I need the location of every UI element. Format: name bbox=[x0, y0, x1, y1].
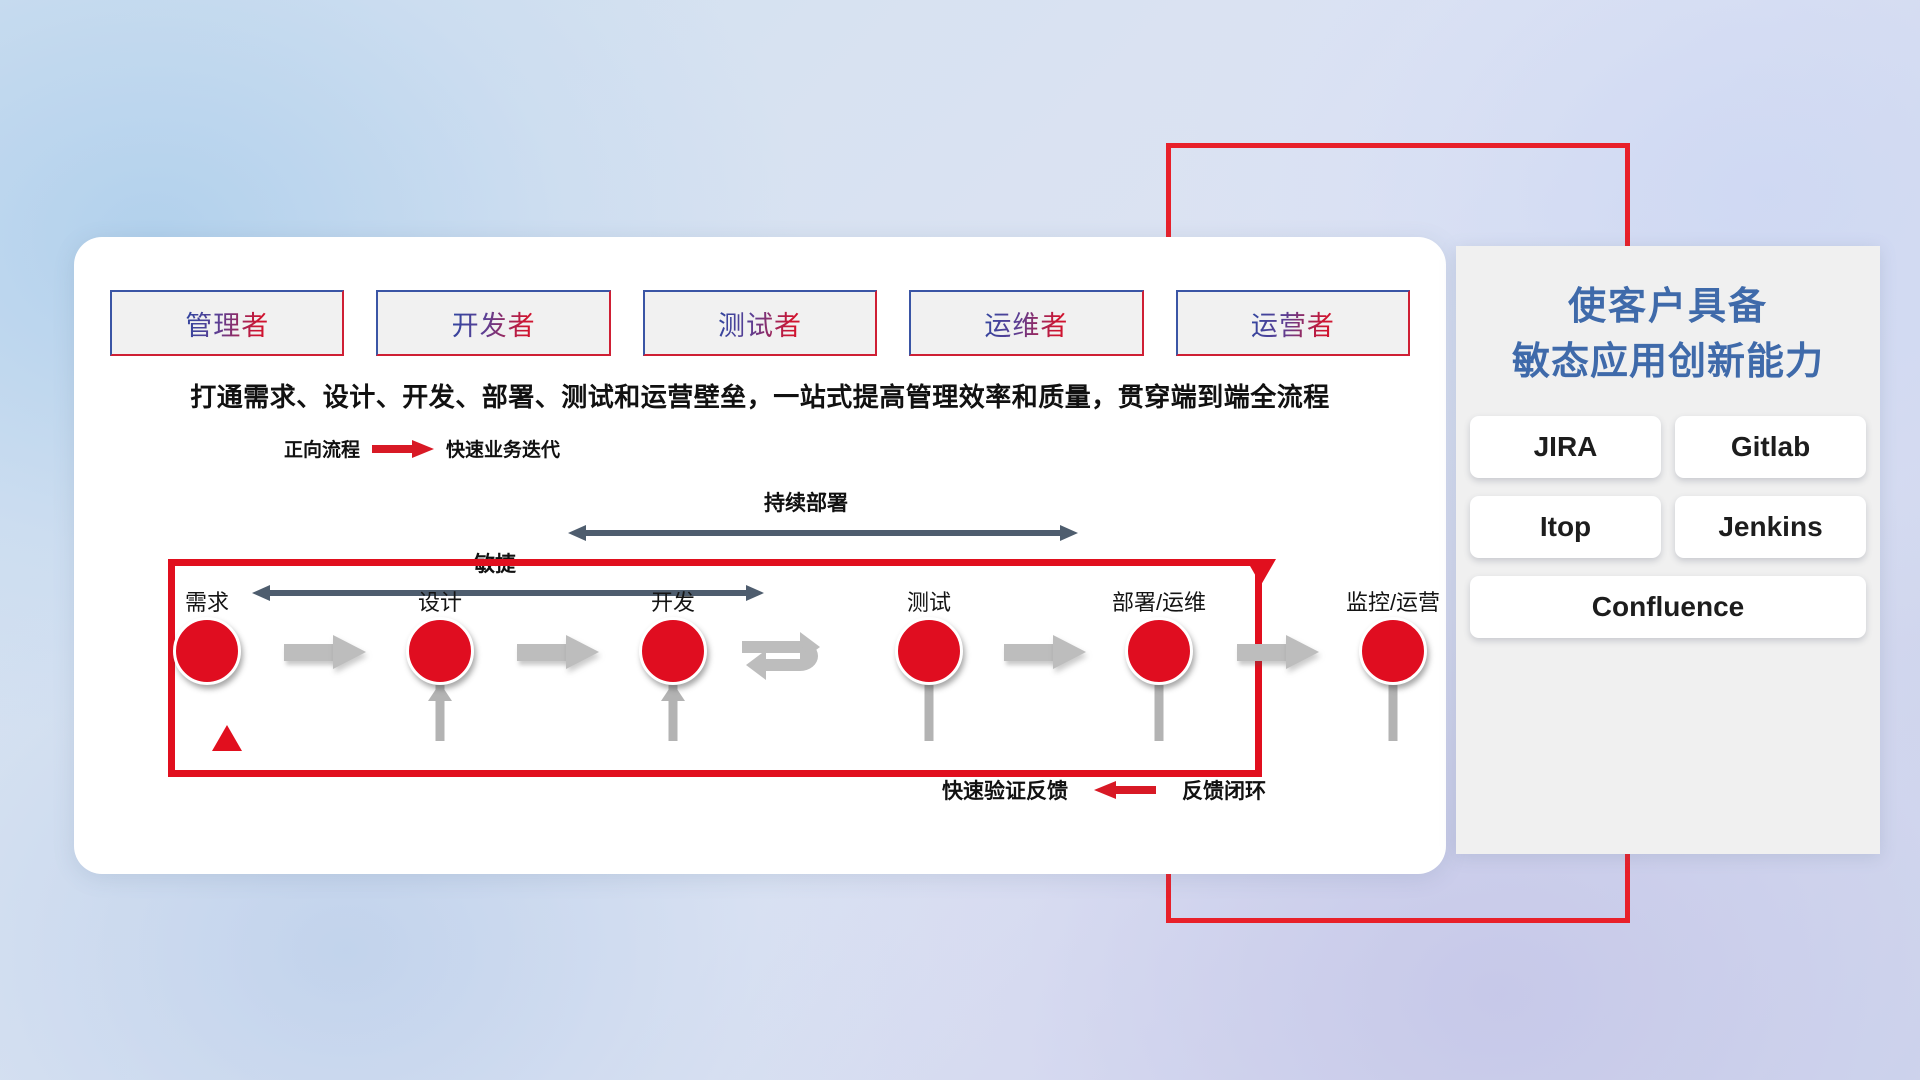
pipeline-node-requirements[interactable]: 需求 bbox=[168, 617, 246, 685]
pipeline-node-dot bbox=[1359, 617, 1427, 685]
double-arrow-icon-continuous-deployment bbox=[568, 525, 1078, 541]
headline-text: 打通需求、设计、开发、部署、测试和运营壁垒，一站式提高管理效率和质量，贯穿端到端… bbox=[74, 377, 1446, 414]
legend-forward-left-label: 正向流程 bbox=[284, 435, 360, 462]
legend-forward-flow: 正向流程 快速业务迭代 bbox=[284, 435, 560, 462]
pipeline-node-dot bbox=[406, 617, 474, 685]
pipeline-node-label: 测试 bbox=[907, 585, 951, 617]
role-box-ops[interactable]: 运维者 bbox=[909, 290, 1143, 356]
gray-arrow-icon-1 bbox=[284, 635, 366, 669]
feedback-loop-arrow-up-icon bbox=[212, 725, 242, 751]
pipeline-node-testing[interactable]: 测试 bbox=[890, 617, 968, 685]
role-box-developer[interactable]: 开发者 bbox=[376, 290, 610, 356]
panel-title: 使客户具备 敏态应用创新能力 bbox=[1456, 246, 1880, 390]
loop-back-arrow-svg bbox=[738, 625, 834, 687]
tool-chip-gitlab[interactable]: Gitlab bbox=[1675, 416, 1866, 478]
arrow-bar bbox=[1237, 644, 1287, 661]
pipeline: 需求 设计 开发 bbox=[74, 617, 1446, 787]
arrow-head bbox=[1286, 635, 1319, 669]
right-panel: 使客户具备 敏态应用创新能力 JIRA Gitlab Itop Jenkins … bbox=[1456, 246, 1880, 854]
pipeline-node-dot bbox=[895, 617, 963, 685]
gray-arrow-icon-3 bbox=[1004, 635, 1086, 669]
roles-row: 管理者 开发者 测试者 运维者 运营者 bbox=[110, 290, 1410, 356]
gray-arrow-icon-4 bbox=[1237, 635, 1319, 669]
role-box-tester[interactable]: 测试者 bbox=[643, 290, 877, 356]
node-stem bbox=[925, 685, 934, 741]
tool-chip-jira[interactable]: JIRA bbox=[1470, 416, 1661, 478]
span-label-continuous-deployment: 持续部署 bbox=[764, 487, 848, 517]
loop-back-arrow-icon bbox=[738, 625, 834, 687]
role-box-manager[interactable]: 管理者 bbox=[110, 290, 344, 356]
pipeline-node-dot bbox=[1125, 617, 1193, 685]
pipeline-node-label: 监控/运营 bbox=[1346, 585, 1440, 617]
main-card: 管理者 开发者 测试者 运维者 运营者 打通需求、设计、开发、部署、测试和运营壁… bbox=[74, 237, 1446, 874]
pipeline-node-monitor-operations[interactable]: 监控/运营 bbox=[1354, 617, 1432, 685]
arrow-bar bbox=[284, 644, 334, 661]
pipeline-node-label: 需求 bbox=[185, 585, 229, 617]
role-label: 管理者 bbox=[185, 304, 269, 343]
arrow-bar bbox=[585, 530, 1061, 536]
role-box-operator[interactable]: 运营者 bbox=[1176, 290, 1410, 356]
gray-arrow-icon-2 bbox=[517, 635, 599, 669]
pipeline-node-design[interactable]: 设计 bbox=[401, 617, 479, 685]
pipeline-node-label: 开发 bbox=[651, 585, 695, 617]
panel-title-line1: 使客户具备 bbox=[1456, 280, 1880, 335]
arrow-head-left bbox=[568, 525, 586, 541]
node-stem-arrow-icon bbox=[661, 683, 685, 701]
node-stem-arrow-icon bbox=[428, 683, 452, 701]
arrow-bar bbox=[517, 644, 567, 661]
role-label: 测试者 bbox=[718, 304, 802, 343]
arrow-head bbox=[1053, 635, 1086, 669]
arrow-head bbox=[333, 635, 366, 669]
pipeline-node-label: 设计 bbox=[418, 585, 462, 617]
legend-forward-right-label: 快速业务迭代 bbox=[446, 435, 560, 462]
panel-title-line2: 敏态应用创新能力 bbox=[1456, 335, 1880, 390]
arrow-head bbox=[566, 635, 599, 669]
pipeline-node-development[interactable]: 开发 bbox=[634, 617, 712, 685]
arrow-bar bbox=[1004, 644, 1054, 661]
role-label: 开发者 bbox=[452, 304, 536, 343]
role-label: 运营者 bbox=[1251, 304, 1335, 343]
tools-grid: JIRA Gitlab Itop Jenkins Confluence bbox=[1470, 416, 1866, 638]
pipeline-node-dot bbox=[639, 617, 707, 685]
pipeline-node-deploy-ops[interactable]: 部署/运维 bbox=[1120, 617, 1198, 685]
tool-chip-jenkins[interactable]: Jenkins bbox=[1675, 496, 1866, 558]
tool-chip-itop[interactable]: Itop bbox=[1470, 496, 1661, 558]
pipeline-node-label: 部署/运维 bbox=[1112, 585, 1206, 617]
tool-chip-confluence[interactable]: Confluence bbox=[1470, 576, 1866, 638]
pipeline-node-dot bbox=[173, 617, 241, 685]
arrow-right-red-icon bbox=[372, 440, 434, 458]
role-label: 运维者 bbox=[984, 304, 1068, 343]
node-stem bbox=[1155, 685, 1164, 741]
arrow-head-right bbox=[1060, 525, 1078, 541]
feedback-loop-arrow-down-icon bbox=[1246, 559, 1276, 585]
node-stem bbox=[1389, 685, 1398, 741]
